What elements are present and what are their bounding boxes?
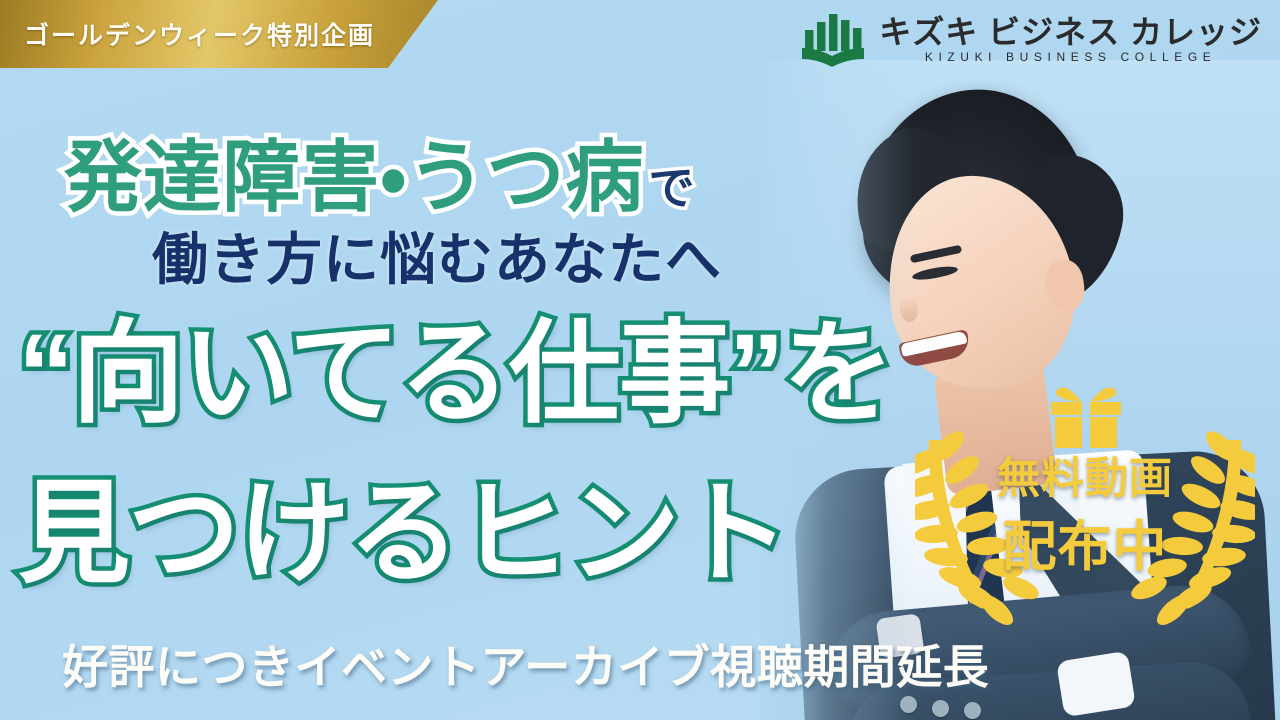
- brand-logo-wordmark: キズキ ビジネス カレッジ KIZUKI BUSINESS COLLEGE: [879, 16, 1262, 63]
- badge-line-1: 無料動画: [915, 458, 1255, 501]
- campaign-ribbon-label: ゴールデンウィーク特別企画: [24, 16, 375, 52]
- photo-eyebrow: [910, 245, 963, 264]
- headline-line-1: 発達障害・うつ病で: [64, 138, 695, 216]
- photo-button: [932, 700, 949, 717]
- headline-line-1-emphasis: 発達障害・うつ病: [64, 133, 645, 221]
- badge-line-2: 配布中: [915, 520, 1255, 574]
- photo-hair-side: [836, 114, 987, 265]
- headline-line-4: 見つけるヒント: [18, 478, 788, 590]
- photo-ear: [1043, 258, 1088, 315]
- promo-banner: ゴールデンウィーク特別企画 キズキ ビジネス カレッジ KIZUKI BUSIN…: [0, 0, 1280, 720]
- brand-logo[interactable]: キズキ ビジネス カレッジ KIZUKI BUSINESS COLLEGE: [801, 10, 1262, 68]
- brand-name-en: KIZUKI BUSINESS COLLEGE: [879, 51, 1262, 63]
- headline-line-3: “向いてる仕事”を: [18, 318, 893, 430]
- photo-button: [900, 696, 917, 713]
- photo-button: [964, 702, 981, 719]
- photo-shirt-cuff: [1056, 651, 1136, 718]
- photo-face: [872, 162, 1088, 403]
- headline-line-2: 働き方に悩むあなたへ: [152, 232, 722, 288]
- photo-teeth: [900, 330, 967, 356]
- campaign-ribbon: ゴールデンウィーク特別企画: [0, 0, 440, 68]
- headline-line-1-particle: で: [649, 162, 695, 214]
- gift-box-icon: [1047, 380, 1125, 450]
- book-bar-chart-icon: [801, 10, 865, 68]
- photo-hair-back: [996, 145, 1135, 315]
- photo-hair: [849, 79, 1101, 322]
- brand-name-jp: キズキ ビジネス カレッジ: [879, 16, 1262, 48]
- photo-nose: [898, 295, 920, 324]
- photo-eye: [911, 264, 958, 282]
- free-video-badge: 無料動画 配布中: [915, 378, 1255, 628]
- archive-extension-caption: 好評につきイベントアーカイブ視聴期間延長: [62, 644, 989, 690]
- photo-mouth: [898, 329, 972, 369]
